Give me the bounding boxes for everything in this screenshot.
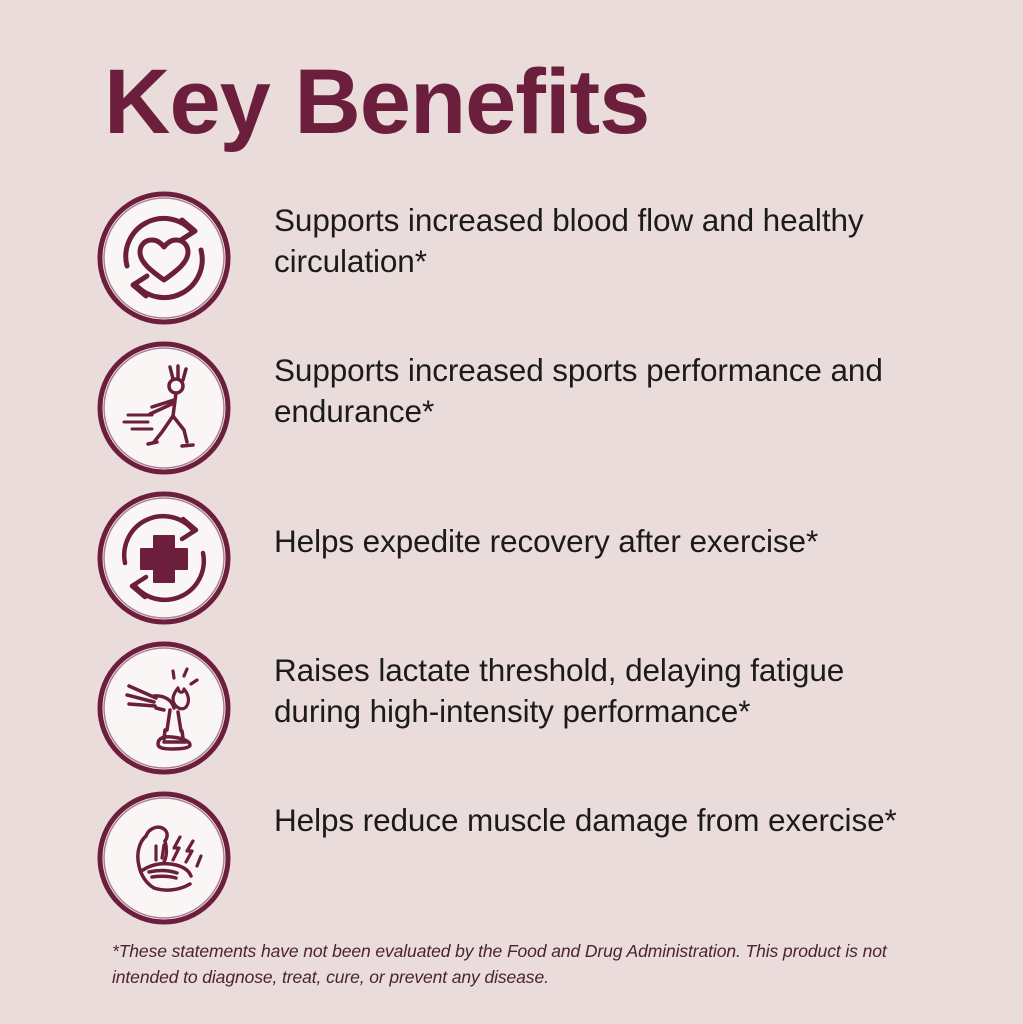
benefit-label-5: Helps reduce muscle damage from exercise… (274, 800, 934, 841)
benefit-item-2: Supports increased sports performance an… (0, 336, 1023, 486)
benefit-label-2: Supports increased sports performance an… (274, 350, 934, 432)
benefit-item-4: Raises lactate threshold, delaying fatig… (0, 636, 1023, 786)
benefit-item-5: Helps reduce muscle damage from exercise… (0, 786, 1023, 936)
benefit-item-1: Supports increased blood flow and health… (0, 186, 1023, 336)
disclaimer-text: *These statements have not been evaluate… (112, 938, 922, 990)
runner-finish-line-icon (94, 338, 234, 478)
benefit-item-3: Helps expedite recovery after exercise* (0, 486, 1023, 636)
heart-circulation-icon (94, 188, 234, 328)
key-benefits-page: Key Benefits Supports increased blood fl… (0, 0, 1023, 1024)
medical-cross-recovery-icon (94, 488, 234, 628)
benefit-label-1: Supports increased blood flow and health… (274, 200, 934, 282)
burning-leg-fatigue-icon (94, 638, 234, 778)
benefits-list: Supports increased blood flow and health… (0, 186, 1023, 936)
page-title: Key Benefits (104, 52, 649, 152)
flexed-bicep-muscle-icon (94, 788, 234, 928)
benefit-label-3: Helps expedite recovery after exercise* (274, 521, 934, 562)
benefit-label-4: Raises lactate threshold, delaying fatig… (274, 650, 934, 732)
